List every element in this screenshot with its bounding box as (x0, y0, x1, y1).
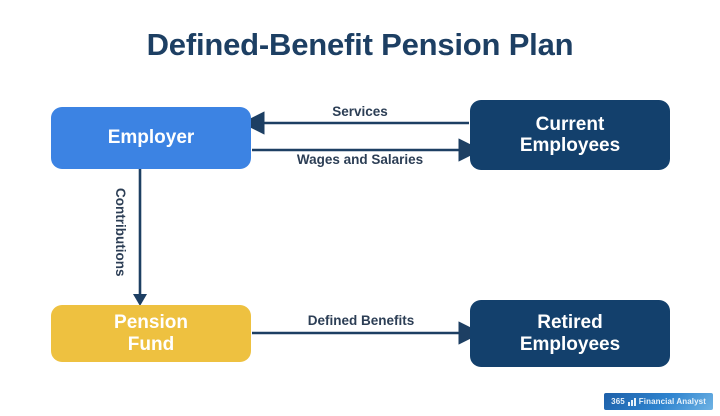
node-retired-employees[interactable]: Retired Employees (470, 300, 670, 367)
watermark-text-prefix: 365 (611, 397, 625, 406)
node-pension-fund-label-line2: Fund (114, 334, 188, 355)
edge-label-contributions: Contributions (113, 188, 128, 276)
node-pension-fund-label-line1: Pension (114, 312, 188, 333)
node-retired-employees-label-line2: Employees (520, 334, 620, 355)
edge-label-wages-and-salaries: Wages and Salaries (0, 152, 720, 167)
edge-label-services: Services (0, 104, 720, 119)
bar-chart-icon (628, 398, 636, 406)
node-employer-label: Employer (108, 127, 195, 148)
diagram-canvas: Defined-Benefit Pension Plan (0, 0, 720, 416)
node-pension-fund[interactable]: Pension Fund (51, 305, 251, 362)
watermark-365-financial-analyst: 365 Financial Analyst (604, 393, 713, 410)
watermark-text: Financial Analyst (639, 397, 706, 406)
node-retired-employees-label-line1: Retired (520, 312, 620, 333)
edge-contributions (133, 169, 147, 306)
edge-label-defined-benefits: Defined Benefits (252, 313, 470, 328)
